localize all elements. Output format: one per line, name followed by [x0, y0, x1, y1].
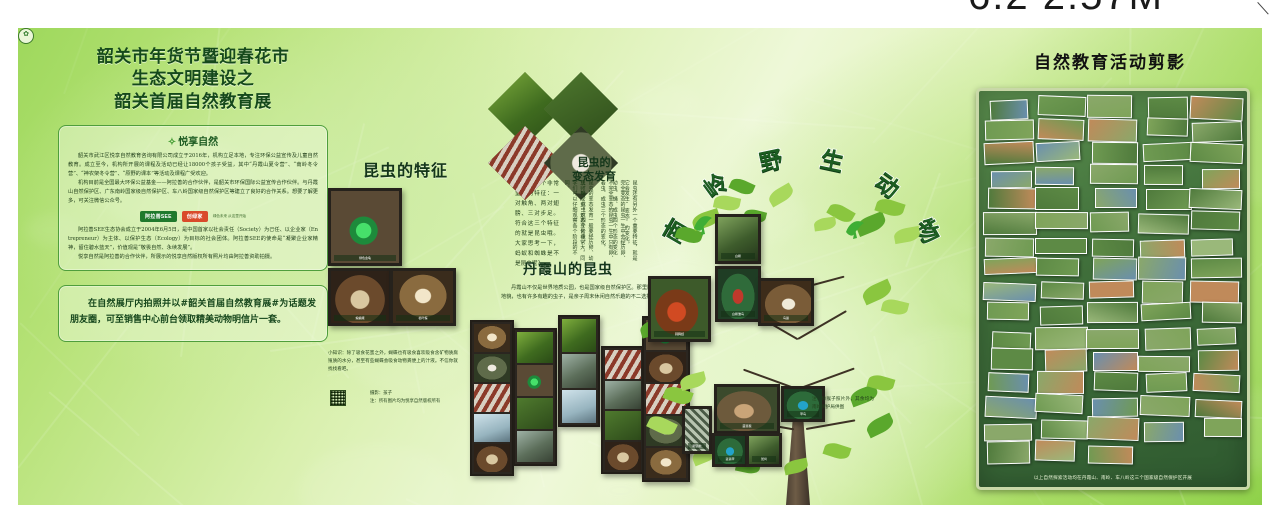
activity-photo [1141, 301, 1192, 321]
activity-photo [1189, 188, 1243, 210]
activity-photo [992, 331, 1032, 349]
activity-photo [1140, 395, 1191, 417]
organization-heading-text: 悦享自然 [178, 137, 218, 148]
strip-cell [474, 444, 510, 472]
photo-caption: 蓝翡翠 [718, 456, 742, 462]
organization-panel: ✧悦享自然 韶关市武江区悦享自然教育咨询有限公司成立于2016年，机构立足本地，… [58, 125, 328, 270]
photo-caption: 白鹇雏鸟 [721, 311, 755, 317]
callout-panel: 在自然展厅内拍照并以#韶关首届自然教育展#为话题发朋友圈，可至销售中心前台领取精… [58, 285, 328, 342]
leaf-icon [822, 440, 851, 461]
arc-title-char: 生 [817, 140, 847, 178]
activity-photo [991, 348, 1033, 370]
activity-photo [984, 257, 1037, 275]
photo-strip-1 [470, 320, 514, 476]
photo-caption: 鸟巢 [764, 315, 808, 321]
organization-heading: ✧悦享自然 [68, 133, 318, 148]
title-line-2: 生态文明建设之 [58, 68, 328, 90]
activity-photo [1095, 188, 1137, 208]
activity-photo [1191, 121, 1242, 143]
strip-cell [474, 354, 510, 382]
activity-photo [1087, 302, 1138, 323]
activity-photo [989, 99, 1028, 120]
activity-photo [1146, 372, 1188, 393]
title-line-1: 韶关市年货节暨迎春花市 [58, 46, 328, 68]
leaf-badge-icon: ✧ [168, 137, 176, 148]
activity-photo [1138, 213, 1190, 234]
strip-cell [474, 384, 510, 412]
photo-strip-3 [558, 315, 600, 427]
activity-photo [1144, 422, 1184, 442]
activity-photo [1092, 352, 1137, 371]
activity-photo [1041, 281, 1084, 299]
activity-photo [1035, 187, 1079, 210]
activity-photo [1142, 280, 1183, 304]
activity-photo [983, 282, 1036, 302]
activity-photo [1088, 445, 1133, 464]
strip-cell [562, 319, 596, 352]
tree-source-note: 注：除猴子照片外，其余均为南岭保护局供图 [812, 396, 874, 412]
leaf-icon [679, 371, 708, 391]
photo-green-beetle: 绿色金龟 [328, 188, 402, 266]
cropped-status-text: 6.2 2.57M [968, 0, 1164, 19]
activity-photo [1196, 327, 1235, 346]
tree-photo-nest: 鸟巢 [758, 278, 814, 326]
strip-cell [517, 332, 553, 363]
activity-photo [987, 302, 1029, 320]
photo-image [331, 191, 399, 263]
activity-photo [1142, 142, 1191, 162]
tree-photo-kingfisher-2: 蓝翡翠 [712, 433, 748, 467]
logo-alxa-see: 阿拉善SEE [140, 211, 177, 222]
section-title-danxia-insects: 丹霞山的昆虫 [523, 259, 613, 279]
activity-photo [1194, 399, 1242, 419]
activity-photo [1036, 141, 1081, 162]
strip-cell [517, 431, 553, 462]
strip-cell [562, 354, 596, 387]
activity-photo [1193, 373, 1241, 393]
activity-photo [1034, 393, 1083, 414]
strip-cell [517, 365, 553, 396]
activity-photo [1202, 169, 1240, 189]
activity-photo [1138, 355, 1190, 372]
photo-caption: 棘胸蛙 [654, 331, 705, 337]
activity-photo [1204, 418, 1243, 437]
activity-photo [983, 141, 1034, 165]
activity-photo [1035, 167, 1075, 186]
activity-photo [1087, 119, 1137, 143]
vein-line [18, 324, 131, 469]
activity-photo [1145, 189, 1191, 210]
org-paragraph-1: 韶关市武江区悦享自然教育咨询有限公司成立于2016年，机构立足本地，专注环保公益… [68, 152, 318, 179]
arc-title-char: 野 [756, 140, 786, 178]
activity-photo [1138, 257, 1186, 281]
photo-caption: 斑鸠 [752, 456, 776, 462]
copyright-note: 注：所有图片均为悦享自然版权所有 [370, 398, 440, 406]
activity-photo [1094, 371, 1139, 391]
activity-photo [1089, 280, 1135, 299]
activity-photo [990, 171, 1031, 188]
activity-photo [1093, 257, 1137, 280]
activity-photo [1035, 238, 1087, 254]
activity-photo [1035, 326, 1088, 350]
activity-photo [1090, 212, 1129, 233]
activity-photo [1191, 258, 1242, 279]
activity-photo [983, 211, 1037, 235]
activity-photo [1190, 280, 1240, 303]
tree-photo-pheasant: 白鹇雏鸟 [715, 266, 761, 322]
activity-photo [988, 188, 1036, 210]
activity-photo [1146, 118, 1188, 137]
org-paragraph-4: 悦享自然是阿拉善的合作伙伴，所展示的悦享自然版权所有照片均由阿拉善资助拍摄。 [68, 253, 318, 262]
photo-image [651, 279, 708, 339]
activity-photo [1144, 327, 1191, 350]
activity-photo [1191, 238, 1234, 257]
photo-moth-1: 蝙蝠蛾 [328, 268, 392, 326]
leaf-icon [881, 297, 910, 317]
tree-photo-frog: 棘胸蛙 [648, 276, 711, 342]
strip-cell [474, 324, 510, 352]
activity-photo [1035, 212, 1089, 229]
callout-text: 在自然展厅内拍照并以#韶关首届自然教育展#为话题发朋友圈，可至销售中心前台领取精… [70, 296, 316, 329]
activity-photo [1191, 211, 1241, 232]
strip-cell [474, 414, 510, 442]
leaf-icon [813, 217, 836, 232]
leaf-icon [646, 413, 678, 439]
logo-chuanglvjia: 创绿家 [182, 211, 208, 222]
activity-photo [986, 441, 1030, 465]
activity-photo [984, 424, 1033, 442]
bg-blob [299, 444, 456, 505]
photo-caption: 绿色金龟 [334, 255, 396, 261]
activity-photo [1086, 416, 1139, 441]
activity-photo [1189, 142, 1243, 165]
photo-caption: 眼镜蛇 [688, 443, 706, 449]
photo-caption: 藏酋猴 [720, 423, 774, 429]
section-title-insect-features: 昆虫的特征 [363, 157, 448, 181]
photo-caption: 蝙蝠蛾 [334, 315, 386, 321]
corner-diagonal-icon [1258, 2, 1272, 16]
activity-photo [1202, 302, 1243, 323]
photographer-credit: 摄影：孩子 [370, 390, 392, 398]
activity-photo [1090, 164, 1138, 184]
exhibition-poster: 韶关市年货节暨迎春花市 生态文明建设之 韶关首届自然教育展 ✧悦享自然 韶关市武… [18, 28, 1262, 505]
metamorphosis-column-5: 从卵到成虫，形态变化非常大，同学们可以仔细观察各个阶段的不同。 [562, 180, 585, 266]
tree-photo-bird-2: 斑鸠 [746, 433, 782, 467]
activity-photo [1189, 95, 1243, 121]
partner-logos: 阿拉善SEE 创绿家 绿色未来 从这里开始 [68, 211, 318, 222]
activity-panel-caption: 以上自然探索活动均在丹霞山、南岭、车八岭这三个国家级自然保护区开展 [979, 475, 1247, 481]
leaf-icon [864, 413, 896, 439]
logo-chuanglvjia-sub: 绿色未来 从这里开始 [213, 214, 246, 219]
activity-photo [1038, 118, 1084, 141]
activity-photo [1092, 142, 1138, 165]
photo-moth-2: 枯叶蝶 [390, 268, 456, 326]
activity-photo [1198, 349, 1239, 371]
arc-title-nanling-wildlife: 南岭野生动物 [618, 88, 988, 218]
activity-photo [1035, 440, 1076, 463]
tree-photo-monkey: 藏酋猴 [714, 384, 780, 434]
activity-photo-grid [983, 95, 1243, 471]
activity-photo [1045, 348, 1087, 372]
activity-photo [1038, 95, 1087, 117]
photo-caption: 枯叶蝶 [396, 315, 450, 321]
activity-photo [1041, 420, 1088, 440]
activity-photo [1036, 258, 1080, 277]
org-paragraph-3: 阿拉善SEE生态协会成立于2004年6月5日，是中国首家以社会责任（Societ… [68, 226, 318, 253]
activity-photo [1144, 165, 1183, 186]
metamorphosis-column-3: 不完全变态的昆虫一生中只有卵、若虫、成虫三个形态的变化。 [598, 180, 614, 266]
tree-photo-snake: 眼镜蛇 [682, 406, 712, 454]
tip-text: 除了吸食花蜜之外，蝴蝶也有吸食喜欢吸食含矿物质腐殖质的水分，甚至有些蝴蝶会吸食动… [328, 351, 458, 372]
strip-cell [517, 398, 553, 429]
vein-line [49, 392, 266, 505]
activity-photo [1037, 371, 1085, 395]
activity-photo [1087, 95, 1132, 118]
activity-panel-title: 自然教育活动剪影 [970, 48, 1250, 73]
activity-photo-board: 以上自然探索活动均在丹霞山、南岭、车八岭这三个国家级自然保护区开展 [976, 88, 1250, 490]
activity-photo [984, 396, 1037, 419]
activity-photo [985, 237, 1035, 257]
wildlife-tree: 南岭野生动物 白鹇 白鹇雏鸟 棘胸蛙 鸟巢 藏酋猴 [618, 88, 988, 505]
strip-cell [562, 390, 596, 423]
qr-code-icon [330, 390, 346, 406]
org-paragraph-2: 机构目前是全国最大环保公益基金——阿拉善的合作伙伴，是韶关市环保国际公益宣传合作… [68, 179, 318, 206]
page-title: 韶关市年货节暨迎春花市 生态文明建设之 韶关首届自然教育展 [58, 46, 328, 113]
danxia-tip-note: 小知识：除了吸食花蜜之外，蝴蝶也有吸食喜欢吸食含矿物质腐殖质的水分，甚至有些蝴蝶… [328, 350, 458, 373]
activity-photo [1092, 397, 1139, 416]
window-top-strip: 6.2 2.57M [0, 0, 1280, 22]
leaf-circle-icon: ✿ [18, 28, 34, 44]
activity-photo [988, 372, 1030, 392]
activity-photo-panel: 自然教育活动剪影 以上自然探索活动均在丹霞山、南岭、车八岭这三个国家级自然保护区… [970, 42, 1250, 492]
activity-photo [985, 120, 1034, 141]
tip-label: 小知识： [328, 351, 347, 356]
tree-photo-bird-1: 白鹇 [715, 214, 761, 264]
photo-strip-2 [513, 328, 557, 466]
activity-photo [1086, 329, 1139, 349]
activity-photo [1092, 239, 1135, 258]
title-line-3: 韶关首届自然教育展 [58, 91, 328, 113]
photo-caption: 白鹇 [721, 253, 755, 259]
activity-photo [1040, 305, 1083, 326]
left-info-column: 韶关市年货节暨迎春花市 生态文明建设之 韶关首届自然教育展 ✧悦享自然 韶关市武… [58, 46, 328, 342]
photo-caption: 翠鸟 [787, 411, 819, 417]
